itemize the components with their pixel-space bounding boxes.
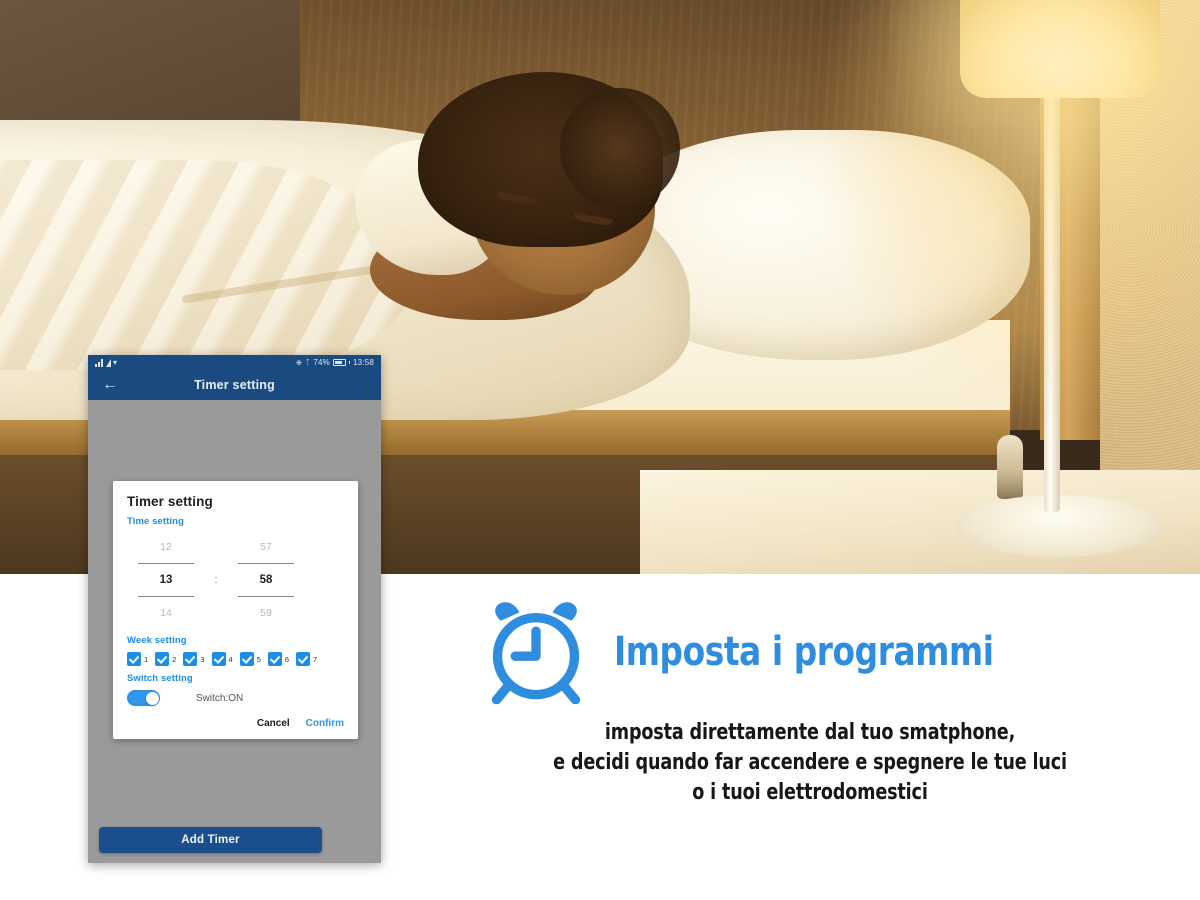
status-right-icons: ⎈ ᛏ 74% 13:58 [296, 358, 374, 368]
minute-divider-bottom [227, 596, 305, 598]
minute-divider-top [227, 563, 305, 565]
hour-divider-bottom [127, 596, 205, 598]
week-day-label: 2 [172, 655, 176, 664]
week-day-1[interactable]: 1 [127, 652, 148, 666]
hour-prev-value[interactable]: 12 [127, 541, 205, 553]
week-day-label: 1 [144, 655, 148, 664]
status-clock-label: 13:58 [353, 358, 374, 367]
photo-figurine [997, 435, 1023, 499]
page-root: ▾ ⎈ ᛏ 74% 13:58 ← Timer setting Timer se… [0, 0, 1200, 900]
switch-toggle[interactable] [127, 690, 160, 706]
photo-lamp-shade [960, 0, 1160, 98]
signal-bars-icon [95, 359, 104, 367]
switch-row: Switch:ON [127, 690, 344, 706]
hour-next-value[interactable]: 14 [127, 607, 205, 619]
wifi-icon: ▾ [113, 359, 117, 367]
photo-duvet-folds [0, 160, 410, 370]
dialog-action-row: Cancel Confirm [127, 718, 344, 729]
app-screen-body: Timer setting Time setting 12 57 13 [88, 400, 381, 863]
timer-setting-dialog: Timer setting Time setting 12 57 13 [113, 481, 358, 739]
time-picker-row-prev[interactable]: 12 57 [127, 535, 344, 559]
minute-prev-value[interactable]: 57 [227, 541, 305, 553]
week-day-7[interactable]: 7 [296, 652, 317, 666]
week-day-5[interactable]: 5 [240, 652, 261, 666]
dialog-title: Timer setting [127, 494, 344, 509]
time-picker-divider-top [127, 559, 344, 568]
battery-tip-icon [349, 361, 350, 364]
time-setting-label: Time setting [127, 516, 344, 527]
alarm-clock-icon [480, 600, 592, 704]
photo-child-hair-highlight [560, 88, 680, 208]
promo-title: Imposta i programmi [614, 629, 994, 675]
promo-body-line-1: imposta direttamente dal tuo smatphone, [522, 718, 1098, 748]
time-colon: : [205, 574, 227, 586]
week-day-label: 4 [229, 655, 233, 664]
promo-body: imposta direttamente dal tuo smatphone, … [420, 718, 1200, 808]
week-day-4[interactable]: 4 [212, 652, 233, 666]
week-day-2[interactable]: 2 [155, 652, 176, 666]
network-triangle-icon [106, 359, 111, 367]
checkbox-checked-icon[interactable] [240, 652, 254, 666]
minute-next-value[interactable]: 59 [227, 607, 305, 619]
hour-selected-value[interactable]: 13 [127, 574, 205, 586]
back-arrow-icon[interactable]: ← [102, 377, 118, 393]
promo-body-line-3: o i tuoi elettrodomestici [522, 778, 1098, 808]
week-setting-label: Week setting [127, 635, 344, 646]
status-left-icons: ▾ [95, 359, 117, 367]
time-picker-row-next[interactable]: 14 59 [127, 601, 344, 625]
time-picker-divider-bottom [127, 592, 344, 601]
switch-setting-label: Switch setting [127, 673, 344, 684]
time-picker-row-selected[interactable]: 13 : 58 [127, 568, 344, 592]
week-day-label: 7 [313, 655, 317, 664]
week-day-checkbox-row: 1 2 3 4 5 [127, 652, 344, 666]
photo-lamp-pole [1044, 92, 1060, 512]
cancel-button[interactable]: Cancel [257, 718, 290, 729]
switch-state-label: Switch:ON [196, 693, 243, 704]
battery-percent-label: 74% [313, 358, 330, 367]
checkbox-checked-icon[interactable] [268, 652, 282, 666]
checkbox-checked-icon[interactable] [155, 652, 169, 666]
phone-status-bar: ▾ ⎈ ᛏ 74% 13:58 [88, 355, 381, 370]
week-day-label: 3 [200, 655, 204, 664]
battery-icon [333, 359, 346, 366]
app-header-title: Timer setting [88, 378, 381, 392]
add-timer-button[interactable]: Add Timer [99, 827, 322, 853]
app-header-bar: ← Timer setting [88, 370, 381, 400]
confirm-button[interactable]: Confirm [306, 718, 344, 729]
week-day-3[interactable]: 3 [183, 652, 204, 666]
week-day-label: 6 [285, 655, 289, 664]
checkbox-checked-icon[interactable] [183, 652, 197, 666]
time-picker[interactable]: 12 57 13 : 58 [127, 533, 344, 629]
week-day-label: 5 [257, 655, 261, 664]
checkbox-checked-icon[interactable] [212, 652, 226, 666]
minute-selected-value[interactable]: 58 [227, 574, 305, 586]
promo-header: Imposta i programmi [420, 600, 1200, 704]
phone-mockup: ▾ ⎈ ᛏ 74% 13:58 ← Timer setting Timer se… [88, 355, 381, 863]
promo-body-line-2: e decidi quando far accendere e spegnere… [522, 748, 1098, 778]
hour-divider-top [127, 563, 205, 565]
promo-section: Imposta i programmi imposta direttamente… [420, 600, 1200, 860]
bluetooth-icon: ᛏ [305, 358, 310, 367]
nfc-icon: ⎈ [296, 358, 303, 368]
checkbox-checked-icon[interactable] [296, 652, 310, 666]
week-day-6[interactable]: 6 [268, 652, 289, 666]
checkbox-checked-icon[interactable] [127, 652, 141, 666]
